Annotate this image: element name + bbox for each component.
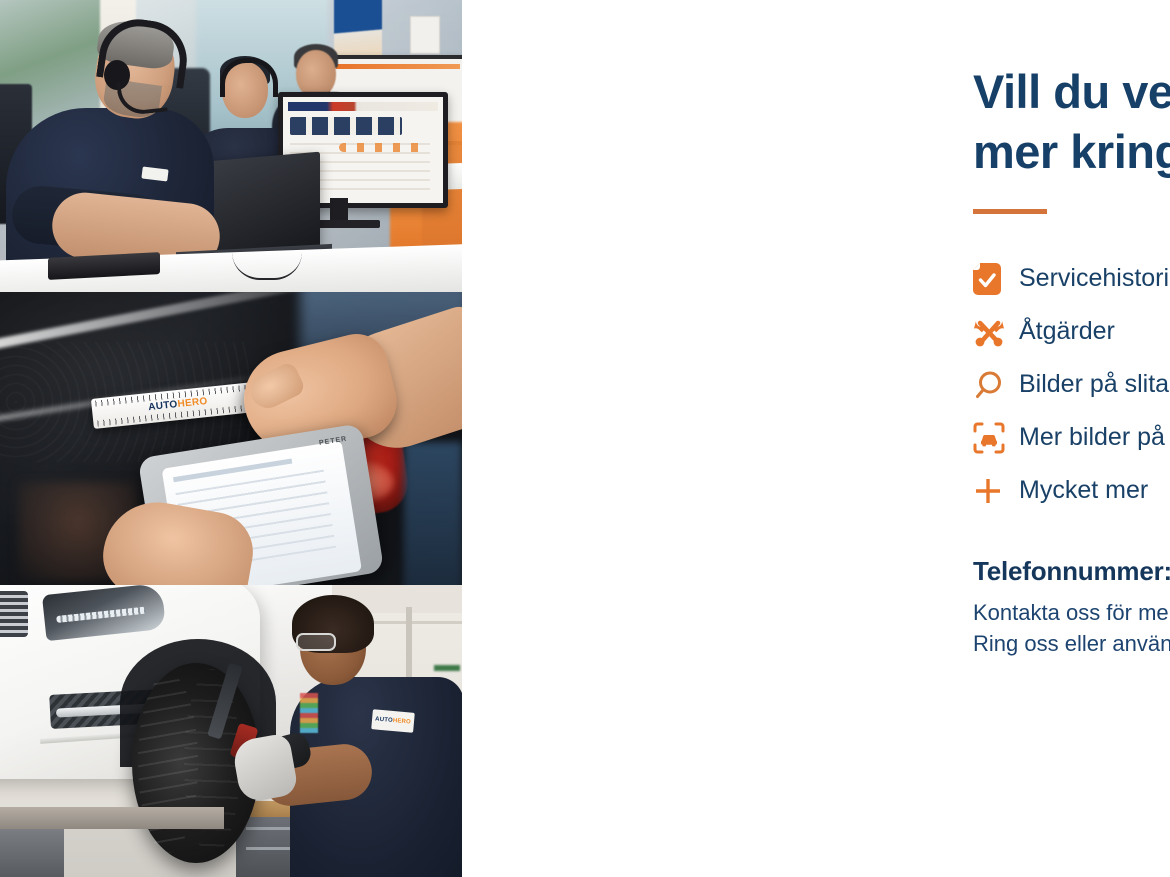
phone-number[interactable]: Telefonnummer: +46812411432 (973, 556, 1170, 587)
monitor-browser-bar (288, 102, 438, 111)
feature-label: Bilder på slitage (1019, 370, 1170, 399)
contact-block: Telefonnummer: +46812411432 Kontakta oss… (973, 556, 1170, 659)
page-title-line-1: Vill du veta (973, 65, 1170, 118)
feature-list: Servicehistoriken Åtgärder (973, 252, 1170, 517)
contact-line-2: Ring oss eller använd kontaktformuläret. (973, 628, 1170, 659)
photo-bg-poster (334, 0, 382, 56)
page-title-line-2: mer kring: (973, 122, 1170, 182)
photo-column: AUTOHERO PETER (0, 0, 462, 877)
photo-call-center (0, 0, 462, 292)
agent-2-headset-icon (220, 58, 278, 97)
photo-wheel-check: AUTOHERO (0, 585, 462, 877)
monitor-icon-row (339, 143, 429, 152)
brand-hero: HERO (393, 718, 412, 726)
feature-label: Åtgärder (1019, 317, 1115, 346)
plus-icon (973, 476, 1019, 506)
mechanic-autohero-badge: AUTOHERO (371, 709, 415, 733)
mechanic-safety-glasses (296, 633, 336, 651)
monitor-car-thumbnails (290, 117, 402, 135)
workshop-green-detail (434, 665, 460, 671)
workshop-colour-chart (300, 693, 318, 733)
page-title: Vill du veta mer kring: (973, 62, 1170, 182)
car-scan-icon (973, 422, 1019, 454)
title-divider (973, 209, 1047, 214)
car-grille (0, 591, 28, 637)
photo-car-inspection: AUTOHERO PETER (0, 292, 462, 584)
feature-label: Mer bilder på bilen (1019, 423, 1170, 452)
magnifier-icon (973, 369, 1019, 401)
feature-label: Mycket mer (1019, 476, 1148, 505)
content-panel: Vill du veta mer kring: Servicehistorike… (462, 0, 1170, 877)
feature-item-atgarder: Åtgärder (973, 305, 1170, 358)
feature-item-bilder-pa-slitage: Bilder på slitage (973, 358, 1170, 411)
brand-auto: AUTO (148, 399, 178, 413)
agent-3-head (296, 50, 336, 98)
feature-item-mycket-mer: Mycket mer (973, 464, 1170, 517)
feature-label: Servicehistoriken (1019, 264, 1170, 293)
brand-auto: AUTO (375, 716, 393, 724)
photo-bg-blue-strip (404, 442, 462, 584)
brand-hero: HERO (177, 396, 208, 410)
contact-line-1: Kontakta oss för mer information! (973, 597, 1170, 628)
feature-item-servicehistoriken: Servicehistoriken (973, 252, 1170, 305)
feature-item-mer-bilder-pa-bilen: Mer bilder på bilen (973, 411, 1170, 464)
car-lift-platform (0, 807, 224, 829)
photo-bg-poster-small (410, 16, 440, 54)
promo-page: AUTOHERO PETER (0, 0, 1170, 877)
car-lift-column (0, 829, 64, 877)
document-check-icon (973, 263, 1019, 295)
tools-icon (973, 316, 1019, 348)
